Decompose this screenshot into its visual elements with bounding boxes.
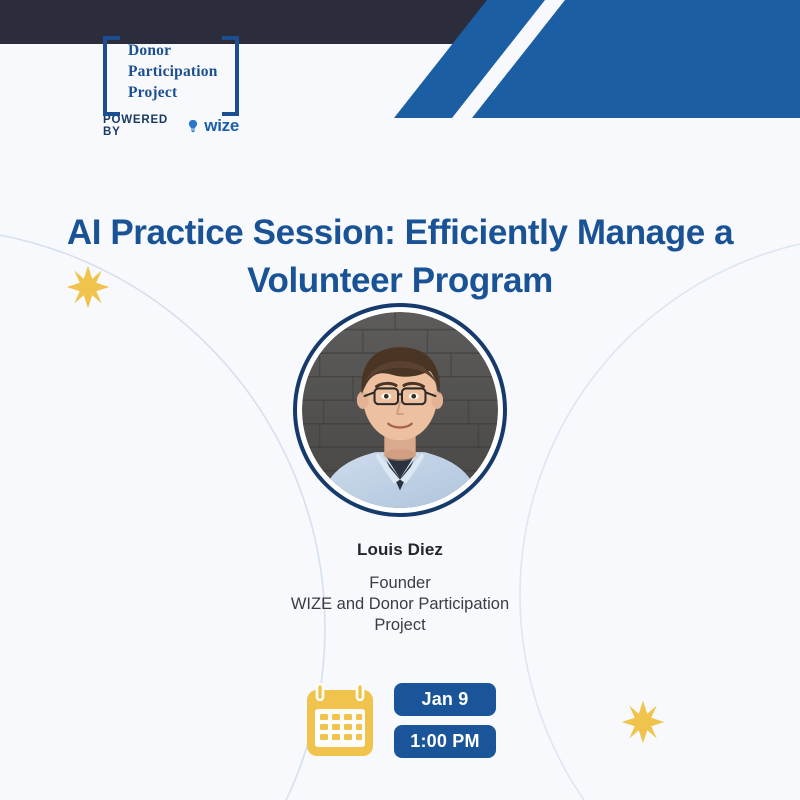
speaker-block: Louis Diez Founder WIZE and Donor Partic… — [0, 540, 800, 636]
bracket-left-icon — [103, 36, 120, 116]
logo-wordmark: Donor Participation Project — [128, 40, 218, 103]
logo-line-2: Participation — [128, 61, 218, 82]
dark-angled-block — [0, 0, 513, 44]
calendar-icon — [304, 682, 376, 758]
speaker-name: Louis Diez — [0, 540, 800, 560]
avatar-image — [302, 312, 498, 508]
wize-wordmark: wize — [204, 116, 239, 136]
speaker-role-line-1: Founder — [369, 574, 430, 592]
datetime-badges: Jan 9 1:00 PM — [394, 683, 495, 758]
bracket-right-icon — [222, 36, 239, 116]
speaker-role-line-3: Project — [374, 616, 425, 634]
event-datetime-row: Jan 9 1:00 PM — [0, 682, 800, 758]
avatar — [293, 303, 507, 517]
powered-by-row: POWERED BY wize — [103, 114, 239, 138]
webinar-promo-poster: Donor Participation Project POWERED BY w… — [0, 0, 800, 800]
lightbulb-icon — [186, 119, 200, 133]
speaker-role: Founder WIZE and Donor Participation Pro… — [0, 573, 800, 636]
logo-line-3: Project — [128, 82, 218, 103]
page-title: AI Practice Session: Efficiently Manage … — [0, 209, 800, 305]
brand-logo: Donor Participation Project POWERED BY w… — [103, 36, 239, 138]
logo-bracket-lockup: Donor Participation Project — [103, 36, 239, 108]
speaker-role-line-2: WIZE and Donor Participation — [291, 595, 509, 613]
powered-by-label: POWERED BY — [103, 114, 182, 138]
time-badge: 1:00 PM — [394, 725, 495, 758]
logo-line-1: Donor — [128, 40, 218, 61]
date-badge: Jan 9 — [394, 683, 495, 716]
